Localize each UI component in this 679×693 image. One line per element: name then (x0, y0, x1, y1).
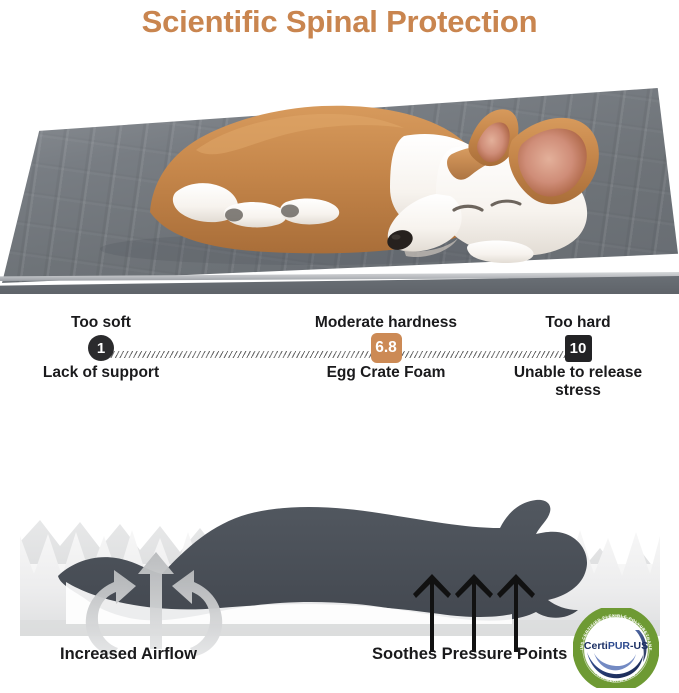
scale-node-bottom-label: Lack of support (16, 364, 186, 382)
sleeping-corgi-dog (0, 44, 679, 294)
infographic-page: Scientific Spinal Protection (0, 0, 679, 691)
badge-wordmark: CertiPUR-US (584, 640, 648, 652)
scale-node-too-soft: Too soft 1 Lack of support (16, 314, 186, 382)
scale-node-bottom-label: Unable to release stress (503, 364, 653, 400)
dog-paw-pad-left (225, 209, 243, 222)
scale-node-top-label: Too soft (16, 314, 186, 332)
scale-node-bottom-label: Egg Crate Foam (296, 364, 476, 382)
caption-soothes-pressure-points: Soothes Pressure Points (372, 645, 567, 664)
scale-marker-value-10: 10 (565, 335, 592, 362)
scale-marker-value-6-8: 6.8 (371, 333, 402, 363)
badge-wordmark-us: -US (630, 640, 648, 652)
scale-marker-value-1: 1 (88, 335, 114, 361)
certipur-us-badge: CertiPUR-US CONTAINS CERTIFIED FLEXIBLE … (573, 608, 659, 688)
hero-product-photo (0, 44, 679, 294)
dog-nose-highlight (392, 234, 401, 239)
pressure-arrows (413, 574, 535, 652)
scale-marker-wrap: 10 (503, 332, 653, 364)
caption-increased-airflow: Increased Airflow (60, 645, 197, 664)
badge-wordmark-pur: PUR (608, 640, 631, 652)
scale-node-top-label: Moderate hardness (296, 314, 476, 332)
page-title: Scientific Spinal Protection (0, 0, 679, 44)
dog-paw-pad-right (281, 205, 299, 218)
badge-wordmark-certi: Certi (584, 640, 608, 652)
hardness-scale: Too soft 1 Lack of support Moderate hard… (0, 306, 679, 412)
scale-node-too-hard: Too hard 10 Unable to release stress (503, 314, 653, 400)
scale-node-moderate: Moderate hardness 6.8 Egg Crate Foam (296, 314, 476, 382)
scale-marker-wrap: 6.8 (296, 332, 476, 364)
scale-marker-wrap: 1 (16, 332, 186, 364)
scale-node-top-label: Too hard (503, 314, 653, 332)
